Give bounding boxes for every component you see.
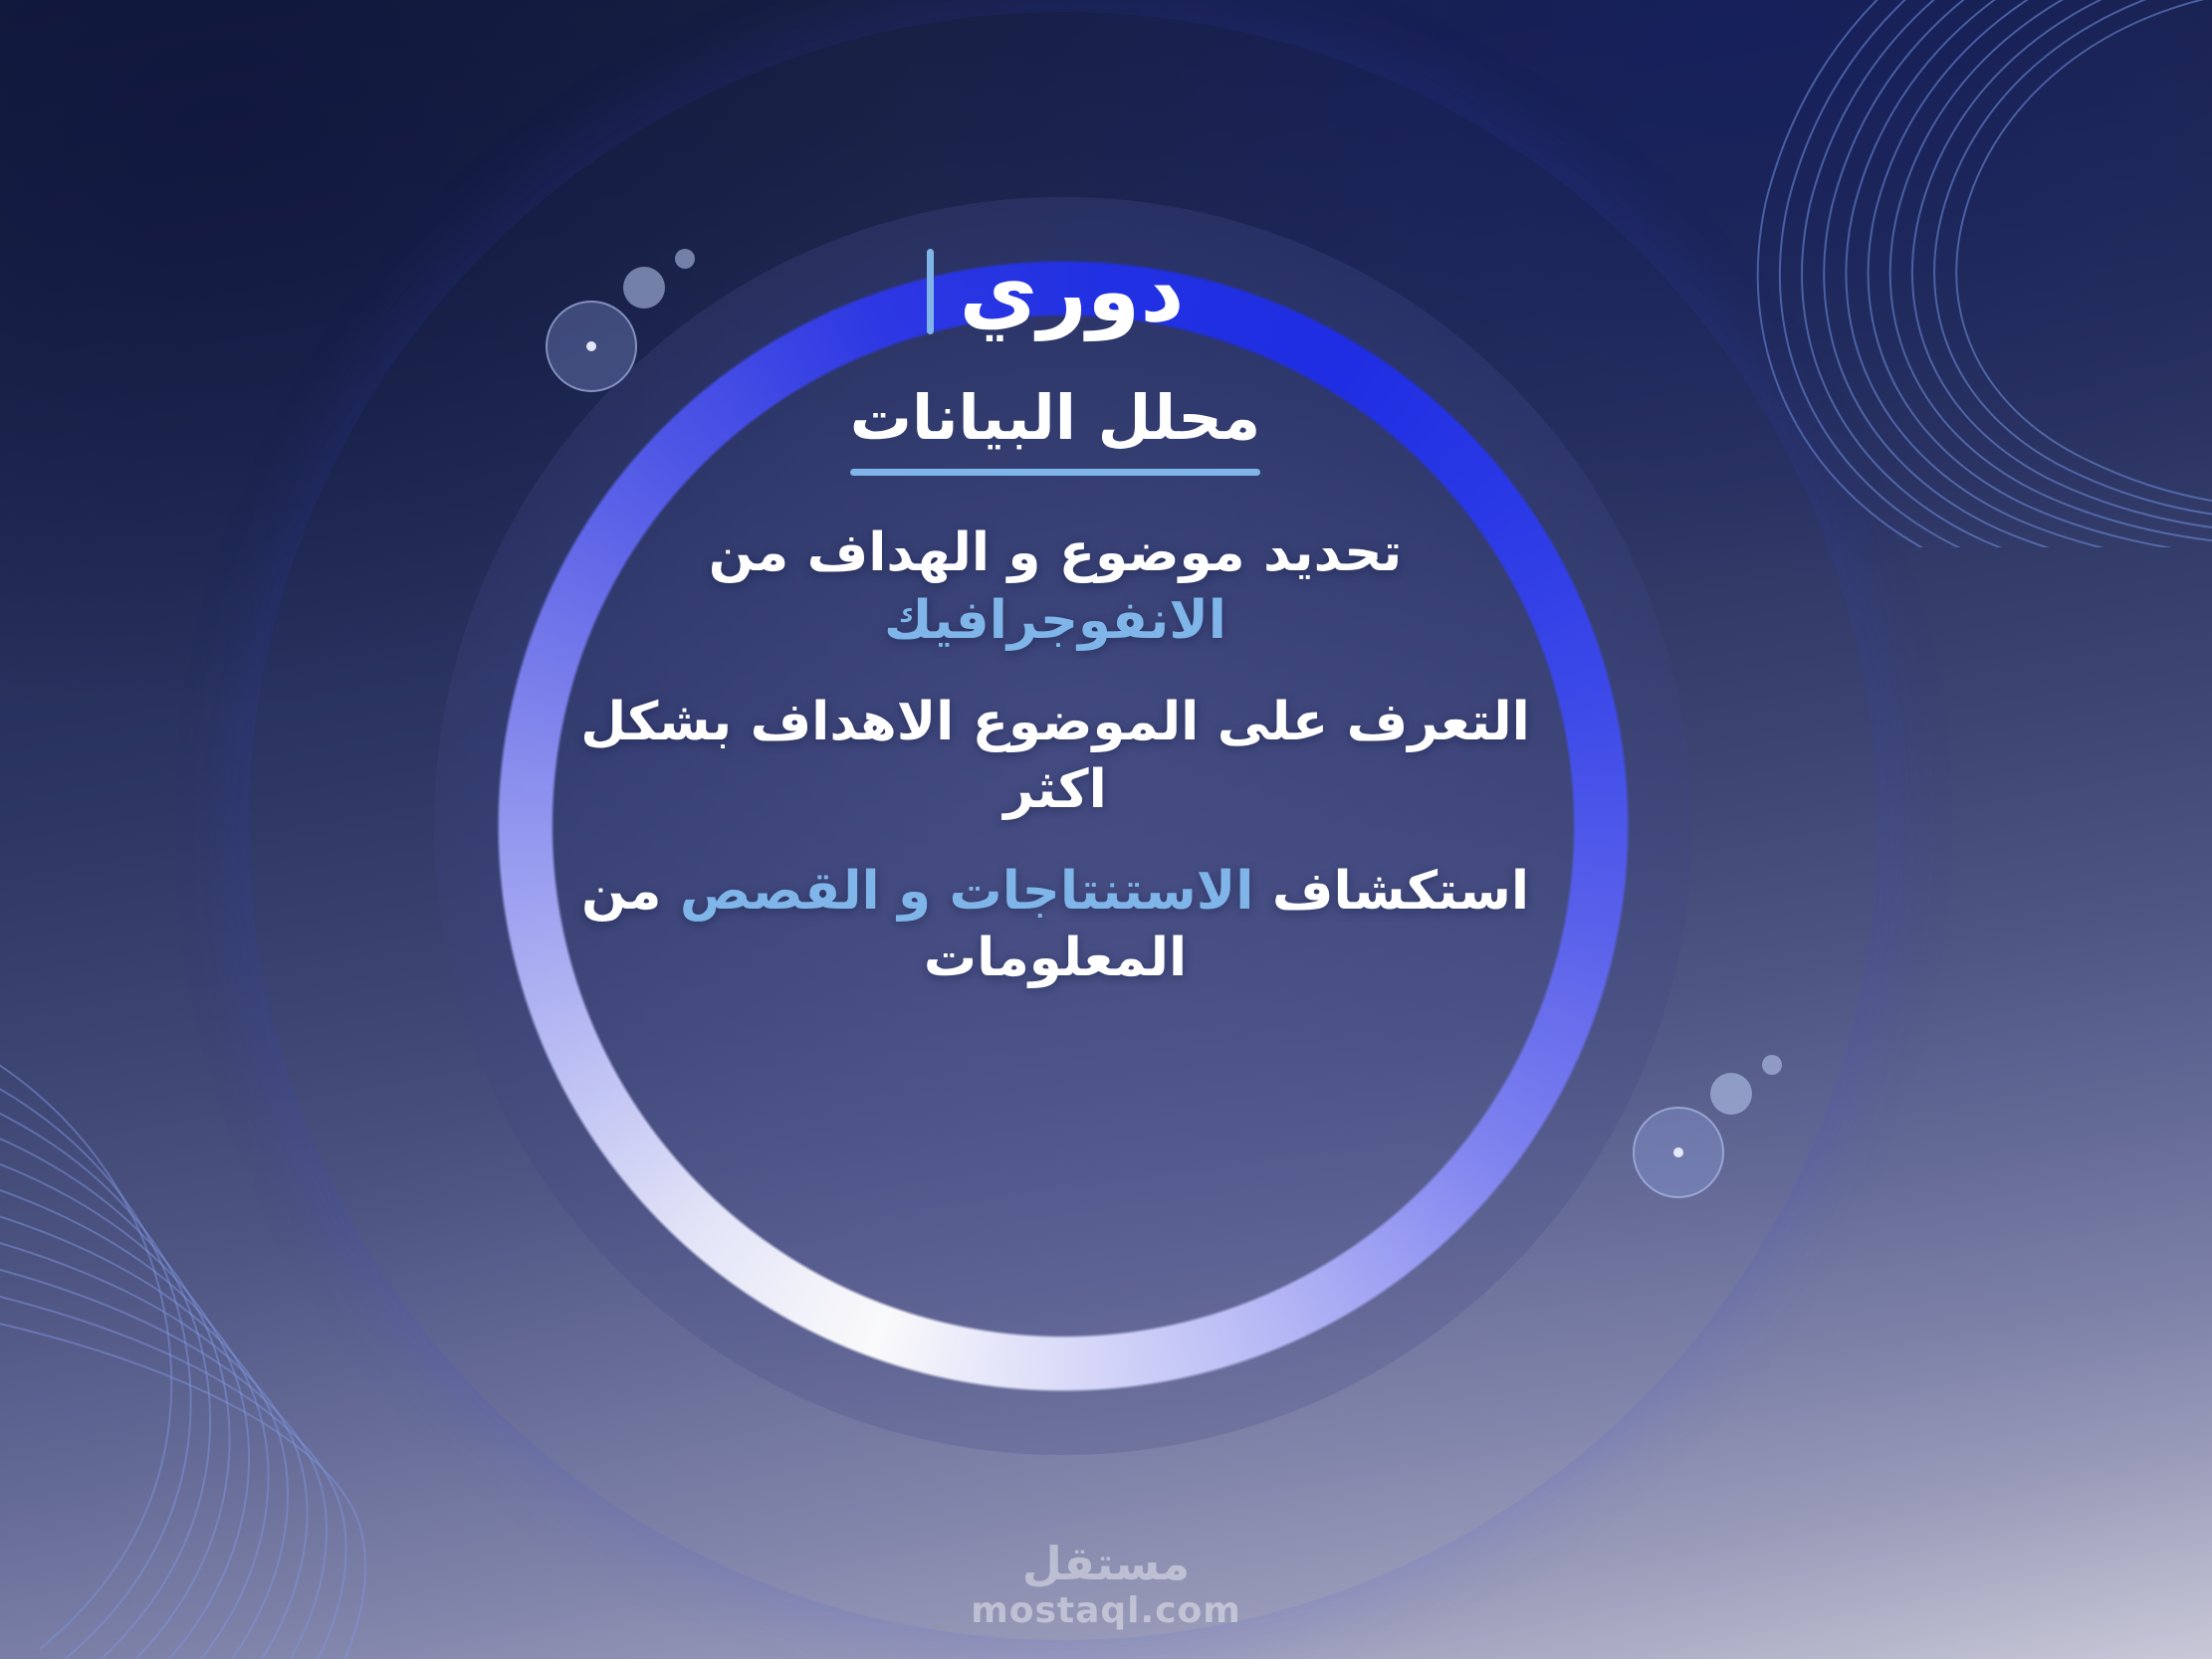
bubble-medium-icon [1710, 1073, 1752, 1115]
brand-title: دوري [960, 249, 1185, 334]
bubble-cluster-bottom-right [1633, 1055, 1792, 1194]
poster-canvas: دوري محلل البيانات تحديد موضوع و الهداف … [0, 0, 2212, 1659]
watermark: مستقل mostaql.com [0, 1541, 2212, 1631]
body-text: استكشاف [1253, 861, 1529, 922]
poster-content: دوري محلل البيانات تحديد موضوع و الهداف … [528, 249, 1583, 992]
watermark-logo-text: مستقل [1022, 1541, 1190, 1586]
watermark-url: mostaql.com [971, 1590, 1241, 1631]
bubble-small-icon [1762, 1055, 1782, 1075]
page-title: محلل البيانات [850, 382, 1261, 469]
bullet-lines: تحديد موضوع و الهداف من الانفوجرافيكالتع… [528, 519, 1583, 992]
bubble-large-icon [1633, 1107, 1724, 1198]
brand-row: دوري [528, 249, 1583, 334]
body-text: التعرف على الموضوع الاهداف بشكل اكثر [580, 692, 1530, 820]
accent-text: الانفوجرافيك [884, 590, 1226, 651]
heading-underline [850, 469, 1261, 476]
body-text: تحديد موضوع و الهداف من [709, 522, 1403, 583]
line-3: استكشاف الاستنتاجات و القصص من المعلومات [553, 858, 1558, 993]
bubble-center-dot [1673, 1147, 1683, 1157]
brand-divider-bar [927, 249, 934, 334]
line-1: تحديد موضوع و الهداف من الانفوجرافيك [553, 519, 1558, 655]
accent-text: الاستنتاجات و القصص [680, 861, 1254, 922]
heading-block: محلل البيانات [850, 382, 1261, 476]
line-2: التعرف على الموضوع الاهداف بشكل اكثر [553, 689, 1558, 824]
